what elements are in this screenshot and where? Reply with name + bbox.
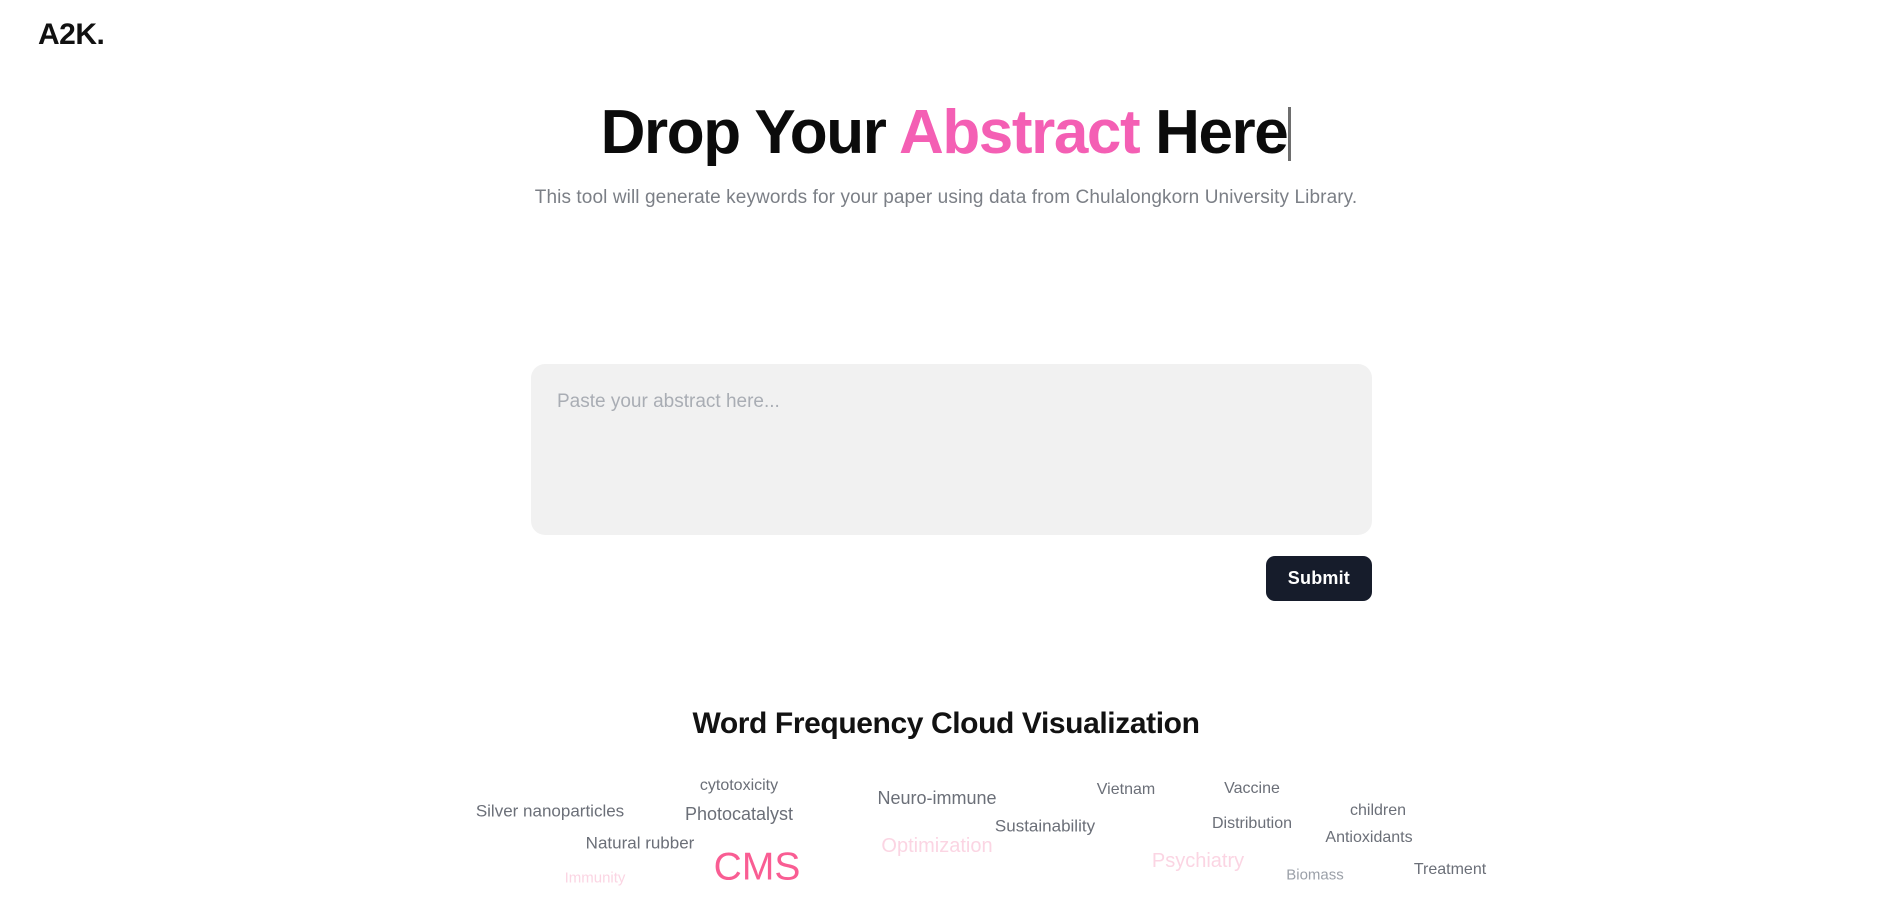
- word-cloud-term[interactable]: Immunity: [565, 871, 626, 886]
- abstract-form: Submit: [531, 364, 1372, 601]
- word-cloud-term[interactable]: Biomass: [1286, 868, 1344, 883]
- submit-button[interactable]: Submit: [1266, 556, 1372, 601]
- word-cloud-term[interactable]: Psychiatry: [1152, 851, 1244, 871]
- word-cloud-term[interactable]: Silver nanoparticles: [476, 803, 624, 820]
- page-subtitle: This tool will generate keywords for you…: [0, 164, 1892, 211]
- word-cloud-term[interactable]: Vietnam: [1097, 782, 1155, 798]
- page-title-part-one: Drop Your: [601, 98, 899, 167]
- word-cloud-term[interactable]: Treatment: [1414, 862, 1486, 878]
- page-root: A2K. Drop Your Abstract Here This tool w…: [0, 0, 1892, 907]
- word-cloud-term[interactable]: Neuro-immune: [877, 789, 996, 807]
- form-actions: Submit: [531, 535, 1372, 601]
- word-cloud-canvas: Silver nanoparticlescytotoxicityPhotocat…: [496, 776, 1396, 907]
- word-cloud-section: Word Frequency Cloud Visualization Silve…: [0, 706, 1892, 907]
- word-cloud-term[interactable]: Distribution: [1212, 816, 1292, 832]
- word-cloud-term[interactable]: Sustainability: [995, 817, 1095, 834]
- page-title-part-two: Here: [1139, 98, 1287, 167]
- page-title: Drop Your Abstract Here: [0, 0, 1892, 164]
- text-caret-icon: [1288, 107, 1291, 161]
- word-cloud-term[interactable]: Antioxidants: [1325, 830, 1412, 846]
- word-cloud-term[interactable]: children: [1350, 803, 1406, 819]
- hero-section: Drop Your Abstract Here This tool will g…: [0, 0, 1892, 211]
- word-cloud-term[interactable]: Photocatalyst: [685, 805, 793, 823]
- word-cloud-heading: Word Frequency Cloud Visualization: [0, 706, 1892, 742]
- word-cloud-term[interactable]: CMS: [714, 848, 801, 887]
- word-cloud-term[interactable]: Optimization: [881, 836, 992, 856]
- word-cloud-term[interactable]: cytotoxicity: [700, 778, 778, 794]
- page-title-accent: Abstract: [899, 98, 1139, 167]
- word-cloud-term[interactable]: Natural rubber: [586, 835, 695, 852]
- word-cloud-term[interactable]: Vaccine: [1224, 781, 1280, 797]
- abstract-input[interactable]: [531, 364, 1372, 535]
